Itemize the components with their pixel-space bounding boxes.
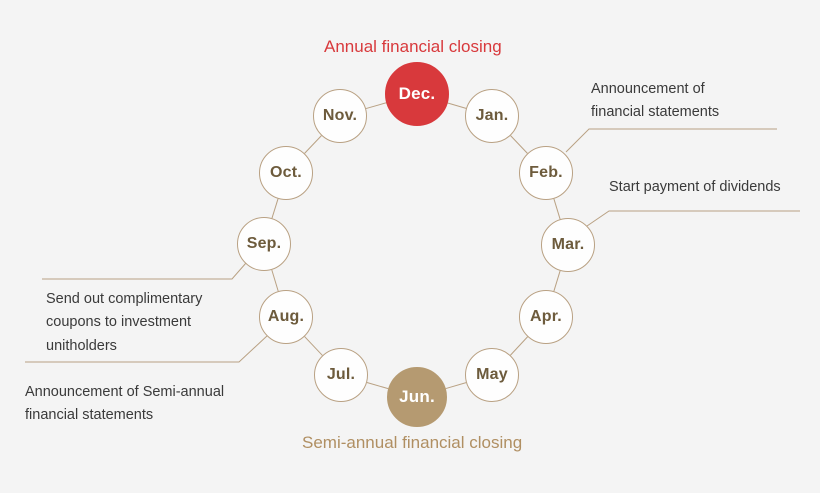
annual-closing-label: Annual financial closing [324, 37, 502, 57]
month-label: Mar. [552, 236, 585, 254]
ring-connector-oct-nov [305, 136, 322, 154]
ring-connector-group [272, 103, 560, 389]
callout-start-payment-dividends: Start payment of dividends [609, 176, 781, 199]
annual-cycle-diagram: Dec.Jan.Feb.Mar.Apr.MayJun.Jul.Aug.Sep.O… [0, 0, 820, 493]
semi-annual-closing-label: Semi-annual financial closing [302, 433, 522, 453]
ring-connector-nov-dec [366, 103, 386, 109]
callout-line: financial statements [25, 404, 224, 427]
ring-connector-aug-sep [272, 270, 278, 291]
ring-connector-jan-feb [511, 136, 528, 154]
callout-leader-send-out-complimentary-coupons [42, 263, 246, 279]
callout-line: Start payment of dividends [609, 176, 781, 199]
callout-announcement-semi-annual-statements: Announcement of Semi-annualfinancial sta… [25, 381, 224, 428]
callout-leader-announcement-financial-statements [566, 129, 777, 152]
month-label: Oct. [270, 164, 302, 182]
callout-line: coupons to investment [46, 311, 202, 334]
month-label: Sep. [247, 235, 282, 253]
ring-connector-may-jun [446, 383, 466, 389]
month-label: Nov. [323, 107, 357, 125]
month-node-feb[interactable]: Feb. [519, 146, 573, 200]
callout-line: Send out complimentary [46, 288, 202, 311]
ring-connector-mar-apr [554, 271, 560, 291]
callout-line: Announcement of Semi-annual [25, 381, 224, 404]
callout-announcement-financial-statements: Announcement offinancial statements [591, 78, 719, 125]
ring-connector-sep-oct [272, 199, 278, 218]
callout-line: Announcement of [591, 78, 719, 101]
month-label: Jul. [327, 366, 355, 384]
callout-line: unitholders [46, 335, 202, 358]
month-label: Jun. [399, 387, 435, 407]
ring-connector-dec-jan [448, 103, 466, 108]
month-node-jul[interactable]: Jul. [314, 348, 368, 402]
month-label: May [476, 366, 508, 384]
callout-line: financial statements [591, 101, 719, 124]
ring-connector-jul-aug [305, 337, 323, 356]
month-node-mar[interactable]: Mar. [541, 218, 595, 272]
month-node-oct[interactable]: Oct. [259, 146, 313, 200]
month-node-nov[interactable]: Nov. [313, 89, 367, 143]
month-label: Dec. [399, 84, 436, 104]
month-node-jun[interactable]: Jun. [387, 367, 447, 427]
callout-send-out-complimentary-coupons: Send out complimentarycoupons to investm… [46, 288, 202, 358]
ring-connector-apr-may [510, 337, 527, 355]
month-node-dec[interactable]: Dec. [385, 62, 449, 126]
month-label: Aug. [268, 308, 304, 326]
month-label: Feb. [529, 164, 563, 182]
month-node-aug[interactable]: Aug. [259, 290, 313, 344]
ring-connector-jun-jul [367, 383, 388, 389]
month-label: Jan. [476, 107, 509, 125]
month-label: Apr. [530, 308, 562, 326]
month-node-may[interactable]: May [465, 348, 519, 402]
month-node-sep[interactable]: Sep. [237, 217, 291, 271]
month-node-jan[interactable]: Jan. [465, 89, 519, 143]
callout-leader-start-payment-dividends [587, 211, 800, 226]
month-node-apr[interactable]: Apr. [519, 290, 573, 344]
ring-connector-feb-mar [554, 199, 560, 219]
